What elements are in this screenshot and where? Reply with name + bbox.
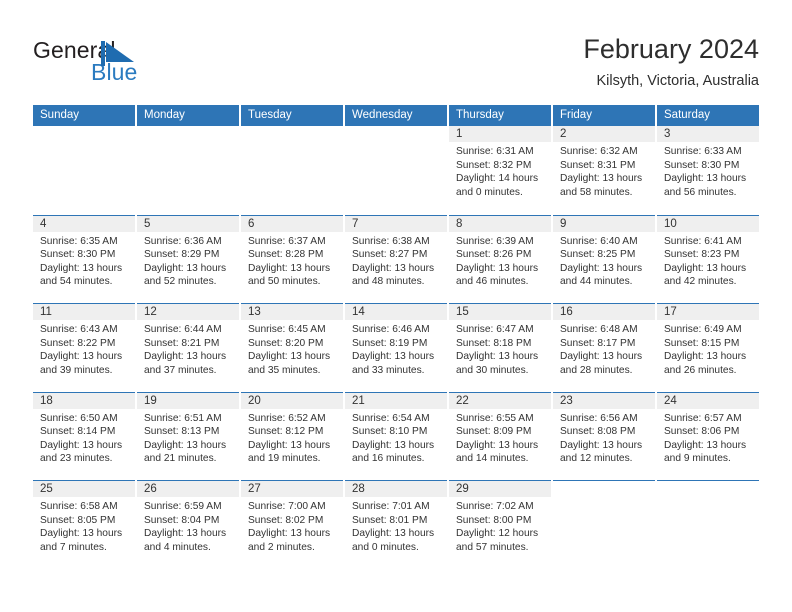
calendar-day-cell[interactable]: 25Sunrise: 6:58 AMSunset: 8:05 PMDayligh…: [33, 480, 135, 569]
sunset-time: Sunset: 8:30 PM: [40, 248, 129, 262]
calendar-cell-empty: [553, 480, 655, 569]
day-details: Sunrise: 6:35 AMSunset: 8:30 PMDaylight:…: [33, 232, 135, 289]
sunrise-time: Sunrise: 6:33 AM: [664, 145, 753, 159]
sunrise-time: Sunrise: 6:46 AM: [352, 323, 441, 337]
calendar-day-cell[interactable]: 2Sunrise: 6:32 AMSunset: 8:31 PMDaylight…: [553, 126, 655, 215]
day-number: 9: [553, 216, 655, 232]
sunset-time: Sunset: 8:09 PM: [456, 425, 545, 439]
calendar-page: General Blue February 2024 Kilsyth, Vict…: [0, 0, 792, 612]
calendar-cell-empty: [241, 126, 343, 215]
day-details: Sunrise: 6:54 AMSunset: 8:10 PMDaylight:…: [345, 409, 447, 466]
sunrise-time: Sunrise: 6:40 AM: [560, 235, 649, 249]
daylight-duration-line1: Daylight: 13 hours: [248, 350, 337, 364]
sunrise-time: Sunrise: 6:52 AM: [248, 412, 337, 426]
day-details: Sunrise: 6:46 AMSunset: 8:19 PMDaylight:…: [345, 320, 447, 377]
daylight-duration-line1: Daylight: 13 hours: [144, 350, 233, 364]
day-details: Sunrise: 6:39 AMSunset: 8:26 PMDaylight:…: [449, 232, 551, 289]
day-number: 25: [33, 481, 135, 497]
daylight-duration-line2: and 14 minutes.: [456, 452, 545, 466]
sunset-time: Sunset: 8:18 PM: [456, 337, 545, 351]
daylight-duration-line2: and 54 minutes.: [40, 275, 129, 289]
daylight-duration-line2: and 21 minutes.: [144, 452, 233, 466]
sunrise-time: Sunrise: 6:45 AM: [248, 323, 337, 337]
daylight-duration-line1: Daylight: 13 hours: [40, 439, 129, 453]
daylight-duration-line2: and 2 minutes.: [248, 541, 337, 555]
daylight-duration-line2: and 50 minutes.: [248, 275, 337, 289]
calendar-day-cell[interactable]: 26Sunrise: 6:59 AMSunset: 8:04 PMDayligh…: [137, 480, 239, 569]
day-details: Sunrise: 6:36 AMSunset: 8:29 PMDaylight:…: [137, 232, 239, 289]
calendar-week-row: 4Sunrise: 6:35 AMSunset: 8:30 PMDaylight…: [33, 215, 759, 304]
daylight-duration-line1: Daylight: 14 hours: [456, 172, 545, 186]
calendar-cell-empty: [33, 126, 135, 215]
title-block: February 2024 Kilsyth, Victoria, Austral…: [583, 33, 759, 91]
day-details: Sunrise: 6:50 AMSunset: 8:14 PMDaylight:…: [33, 409, 135, 466]
day-number: 2: [553, 126, 655, 142]
sunrise-time: Sunrise: 6:47 AM: [456, 323, 545, 337]
day-number: 1: [449, 126, 551, 142]
weekday-header-thursday: Thursday: [449, 105, 551, 126]
daylight-duration-line2: and 48 minutes.: [352, 275, 441, 289]
day-number: 8: [449, 216, 551, 232]
sunset-time: Sunset: 8:17 PM: [560, 337, 649, 351]
sunset-time: Sunset: 8:15 PM: [664, 337, 753, 351]
sunset-time: Sunset: 8:05 PM: [40, 514, 129, 528]
daylight-duration-line2: and 4 minutes.: [144, 541, 233, 555]
sunrise-time: Sunrise: 6:32 AM: [560, 145, 649, 159]
daylight-duration-line1: Daylight: 13 hours: [664, 439, 753, 453]
calendar-day-cell[interactable]: 4Sunrise: 6:35 AMSunset: 8:30 PMDaylight…: [33, 215, 135, 304]
calendar-week-row: 18Sunrise: 6:50 AMSunset: 8:14 PMDayligh…: [33, 392, 759, 481]
day-number: 24: [657, 393, 759, 409]
day-number: 15: [449, 304, 551, 320]
day-details: Sunrise: 7:02 AMSunset: 8:00 PMDaylight:…: [449, 497, 551, 554]
daylight-duration-line1: Daylight: 13 hours: [560, 172, 649, 186]
daylight-duration-line1: Daylight: 13 hours: [456, 262, 545, 276]
sunrise-time: Sunrise: 7:00 AM: [248, 500, 337, 514]
daylight-duration-line1: Daylight: 13 hours: [664, 262, 753, 276]
day-details: Sunrise: 6:47 AMSunset: 8:18 PMDaylight:…: [449, 320, 551, 377]
daylight-duration-line1: Daylight: 13 hours: [456, 439, 545, 453]
daylight-duration-line1: Daylight: 13 hours: [40, 262, 129, 276]
calendar-day-cell[interactable]: 20Sunrise: 6:52 AMSunset: 8:12 PMDayligh…: [241, 392, 343, 481]
sunrise-time: Sunrise: 6:48 AM: [560, 323, 649, 337]
calendar-day-cell[interactable]: 18Sunrise: 6:50 AMSunset: 8:14 PMDayligh…: [33, 392, 135, 481]
calendar-day-cell[interactable]: 23Sunrise: 6:56 AMSunset: 8:08 PMDayligh…: [553, 392, 655, 481]
daylight-duration-line1: Daylight: 13 hours: [560, 350, 649, 364]
calendar-weeks: 1Sunrise: 6:31 AMSunset: 8:32 PMDaylight…: [33, 126, 759, 569]
daylight-duration-line2: and 7 minutes.: [40, 541, 129, 555]
sunrise-time: Sunrise: 6:59 AM: [144, 500, 233, 514]
day-details: Sunrise: 7:01 AMSunset: 8:01 PMDaylight:…: [345, 497, 447, 554]
day-number: 28: [345, 481, 447, 497]
daylight-duration-line2: and 37 minutes.: [144, 364, 233, 378]
sunset-time: Sunset: 8:14 PM: [40, 425, 129, 439]
calendar-day-cell[interactable]: 16Sunrise: 6:48 AMSunset: 8:17 PMDayligh…: [553, 303, 655, 392]
day-number: 7: [345, 216, 447, 232]
daylight-duration-line2: and 23 minutes.: [40, 452, 129, 466]
day-details: Sunrise: 6:37 AMSunset: 8:28 PMDaylight:…: [241, 232, 343, 289]
weekday-header-tuesday: Tuesday: [241, 105, 343, 126]
daylight-duration-line1: Daylight: 13 hours: [352, 262, 441, 276]
daylight-duration-line2: and 52 minutes.: [144, 275, 233, 289]
page-title: February 2024: [583, 33, 759, 65]
sunrise-time: Sunrise: 6:54 AM: [352, 412, 441, 426]
day-details: Sunrise: 6:51 AMSunset: 8:13 PMDaylight:…: [137, 409, 239, 466]
sunset-time: Sunset: 8:29 PM: [144, 248, 233, 262]
general-blue-logo[interactable]: General Blue: [33, 37, 233, 93]
daylight-duration-line2: and 12 minutes.: [560, 452, 649, 466]
day-number: 13: [241, 304, 343, 320]
calendar-cell-empty: [137, 126, 239, 215]
logo-flag-icon: [101, 41, 137, 66]
day-details: Sunrise: 6:56 AMSunset: 8:08 PMDaylight:…: [553, 409, 655, 466]
sunrise-time: Sunrise: 6:35 AM: [40, 235, 129, 249]
day-number: 23: [553, 393, 655, 409]
daylight-duration-line2: and 28 minutes.: [560, 364, 649, 378]
calendar-week-row: 25Sunrise: 6:58 AMSunset: 8:05 PMDayligh…: [33, 480, 759, 569]
day-details: Sunrise: 6:31 AMSunset: 8:32 PMDaylight:…: [449, 142, 551, 199]
calendar-week-row: 11Sunrise: 6:43 AMSunset: 8:22 PMDayligh…: [33, 303, 759, 392]
daylight-duration-line2: and 9 minutes.: [664, 452, 753, 466]
day-details: Sunrise: 6:59 AMSunset: 8:04 PMDaylight:…: [137, 497, 239, 554]
weekday-header-row: SundayMondayTuesdayWednesdayThursdayFrid…: [33, 105, 759, 126]
daylight-duration-line2: and 46 minutes.: [456, 275, 545, 289]
sunset-time: Sunset: 8:01 PM: [352, 514, 441, 528]
day-number: 21: [345, 393, 447, 409]
weekday-header-wednesday: Wednesday: [345, 105, 447, 126]
sunset-time: Sunset: 8:13 PM: [144, 425, 233, 439]
daylight-duration-line2: and 58 minutes.: [560, 186, 649, 200]
sunset-time: Sunset: 8:12 PM: [248, 425, 337, 439]
sunrise-time: Sunrise: 6:51 AM: [144, 412, 233, 426]
day-number: 3: [657, 126, 759, 142]
sunrise-time: Sunrise: 6:50 AM: [40, 412, 129, 426]
day-details: Sunrise: 6:44 AMSunset: 8:21 PMDaylight:…: [137, 320, 239, 377]
day-number: 12: [137, 304, 239, 320]
calendar-day-cell[interactable]: 14Sunrise: 6:46 AMSunset: 8:19 PMDayligh…: [345, 303, 447, 392]
weekday-header-friday: Friday: [553, 105, 655, 126]
sunrise-time: Sunrise: 6:43 AM: [40, 323, 129, 337]
daylight-duration-line2: and 30 minutes.: [456, 364, 545, 378]
calendar-day-cell[interactable]: 10Sunrise: 6:41 AMSunset: 8:23 PMDayligh…: [657, 215, 759, 304]
sunrise-time: Sunrise: 7:02 AM: [456, 500, 545, 514]
day-details: Sunrise: 6:55 AMSunset: 8:09 PMDaylight:…: [449, 409, 551, 466]
daylight-duration-line1: Daylight: 13 hours: [560, 262, 649, 276]
calendar-day-cell[interactable]: 19Sunrise: 6:51 AMSunset: 8:13 PMDayligh…: [137, 392, 239, 481]
calendar-day-cell[interactable]: 21Sunrise: 6:54 AMSunset: 8:10 PMDayligh…: [345, 392, 447, 481]
calendar-day-cell[interactable]: 1Sunrise: 6:31 AMSunset: 8:32 PMDaylight…: [449, 126, 551, 215]
page-header: General Blue February 2024 Kilsyth, Vict…: [33, 33, 759, 99]
day-number: 17: [657, 304, 759, 320]
day-details: Sunrise: 6:41 AMSunset: 8:23 PMDaylight:…: [657, 232, 759, 289]
calendar-day-cell[interactable]: 24Sunrise: 6:57 AMSunset: 8:06 PMDayligh…: [657, 392, 759, 481]
day-details: Sunrise: 6:45 AMSunset: 8:20 PMDaylight:…: [241, 320, 343, 377]
daylight-duration-line1: Daylight: 13 hours: [664, 350, 753, 364]
day-details: Sunrise: 6:32 AMSunset: 8:31 PMDaylight:…: [553, 142, 655, 199]
calendar-day-cell[interactable]: 22Sunrise: 6:55 AMSunset: 8:09 PMDayligh…: [449, 392, 551, 481]
day-number: 10: [657, 216, 759, 232]
sunset-time: Sunset: 8:08 PM: [560, 425, 649, 439]
sunset-time: Sunset: 8:23 PM: [664, 248, 753, 262]
sunrise-time: Sunrise: 6:38 AM: [352, 235, 441, 249]
daylight-duration-line2: and 0 minutes.: [456, 186, 545, 200]
sunset-time: Sunset: 8:22 PM: [40, 337, 129, 351]
daylight-duration-line1: Daylight: 13 hours: [456, 350, 545, 364]
daylight-duration-line2: and 39 minutes.: [40, 364, 129, 378]
day-number: 6: [241, 216, 343, 232]
calendar-day-cell[interactable]: 9Sunrise: 6:40 AMSunset: 8:25 PMDaylight…: [553, 215, 655, 304]
calendar-week-row: 1Sunrise: 6:31 AMSunset: 8:32 PMDaylight…: [33, 126, 759, 215]
sunrise-time: Sunrise: 6:41 AM: [664, 235, 753, 249]
sunset-time: Sunset: 8:25 PM: [560, 248, 649, 262]
sunset-time: Sunset: 8:19 PM: [352, 337, 441, 351]
sunset-time: Sunset: 8:06 PM: [664, 425, 753, 439]
daylight-duration-line1: Daylight: 13 hours: [248, 527, 337, 541]
day-number: 16: [553, 304, 655, 320]
day-number: 20: [241, 393, 343, 409]
daylight-duration-line2: and 0 minutes.: [352, 541, 441, 555]
daylight-duration-line2: and 16 minutes.: [352, 452, 441, 466]
sunrise-time: Sunrise: 6:36 AM: [144, 235, 233, 249]
day-number: 18: [33, 393, 135, 409]
daylight-duration-line2: and 35 minutes.: [248, 364, 337, 378]
sunrise-time: Sunrise: 6:58 AM: [40, 500, 129, 514]
daylight-duration-line2: and 26 minutes.: [664, 364, 753, 378]
daylight-duration-line1: Daylight: 13 hours: [352, 527, 441, 541]
calendar-cell-empty: [657, 480, 759, 569]
day-details: Sunrise: 6:40 AMSunset: 8:25 PMDaylight:…: [553, 232, 655, 289]
daylight-duration-line1: Daylight: 12 hours: [456, 527, 545, 541]
daylight-duration-line1: Daylight: 13 hours: [352, 439, 441, 453]
day-number: 14: [345, 304, 447, 320]
daylight-duration-line2: and 33 minutes.: [352, 364, 441, 378]
daylight-duration-line2: and 57 minutes.: [456, 541, 545, 555]
daylight-duration-line1: Daylight: 13 hours: [352, 350, 441, 364]
sunrise-time: Sunrise: 7:01 AM: [352, 500, 441, 514]
calendar-day-cell[interactable]: 27Sunrise: 7:00 AMSunset: 8:02 PMDayligh…: [241, 480, 343, 569]
day-details: Sunrise: 6:43 AMSunset: 8:22 PMDaylight:…: [33, 320, 135, 377]
daylight-duration-line2: and 19 minutes.: [248, 452, 337, 466]
sunrise-time: Sunrise: 6:57 AM: [664, 412, 753, 426]
sunrise-time: Sunrise: 6:37 AM: [248, 235, 337, 249]
daylight-duration-line1: Daylight: 13 hours: [664, 172, 753, 186]
calendar-day-cell[interactable]: 28Sunrise: 7:01 AMSunset: 8:01 PMDayligh…: [345, 480, 447, 569]
calendar-day-cell[interactable]: 5Sunrise: 6:36 AMSunset: 8:29 PMDaylight…: [137, 215, 239, 304]
daylight-duration-line1: Daylight: 13 hours: [144, 439, 233, 453]
sunset-time: Sunset: 8:20 PM: [248, 337, 337, 351]
sunset-time: Sunset: 8:10 PM: [352, 425, 441, 439]
daylight-duration-line1: Daylight: 13 hours: [40, 527, 129, 541]
day-details: Sunrise: 6:48 AMSunset: 8:17 PMDaylight:…: [553, 320, 655, 377]
calendar-day-cell[interactable]: 11Sunrise: 6:43 AMSunset: 8:22 PMDayligh…: [33, 303, 135, 392]
day-number: 26: [137, 481, 239, 497]
daylight-duration-line1: Daylight: 13 hours: [560, 439, 649, 453]
calendar-day-cell[interactable]: 8Sunrise: 6:39 AMSunset: 8:26 PMDaylight…: [449, 215, 551, 304]
daylight-duration-line1: Daylight: 13 hours: [248, 439, 337, 453]
day-details: Sunrise: 6:38 AMSunset: 8:27 PMDaylight:…: [345, 232, 447, 289]
day-number: 5: [137, 216, 239, 232]
calendar-day-cell[interactable]: 13Sunrise: 6:45 AMSunset: 8:20 PMDayligh…: [241, 303, 343, 392]
sunset-time: Sunset: 8:02 PM: [248, 514, 337, 528]
day-number: 29: [449, 481, 551, 497]
sunset-time: Sunset: 8:21 PM: [144, 337, 233, 351]
day-number: 4: [33, 216, 135, 232]
daylight-duration-line1: Daylight: 13 hours: [248, 262, 337, 276]
sunrise-time: Sunrise: 6:56 AM: [560, 412, 649, 426]
day-details: Sunrise: 7:00 AMSunset: 8:02 PMDaylight:…: [241, 497, 343, 554]
calendar-day-cell[interactable]: 17Sunrise: 6:49 AMSunset: 8:15 PMDayligh…: [657, 303, 759, 392]
daylight-duration-line1: Daylight: 13 hours: [144, 527, 233, 541]
sunset-time: Sunset: 8:26 PM: [456, 248, 545, 262]
sunrise-time: Sunrise: 6:31 AM: [456, 145, 545, 159]
day-number: 27: [241, 481, 343, 497]
sunset-time: Sunset: 8:04 PM: [144, 514, 233, 528]
calendar-cell-empty: [345, 126, 447, 215]
weekday-header-monday: Monday: [137, 105, 239, 126]
day-details: Sunrise: 6:58 AMSunset: 8:05 PMDaylight:…: [33, 497, 135, 554]
calendar-day-cell[interactable]: 7Sunrise: 6:38 AMSunset: 8:27 PMDaylight…: [345, 215, 447, 304]
sunset-time: Sunset: 8:30 PM: [664, 159, 753, 173]
calendar-day-cell[interactable]: 3Sunrise: 6:33 AMSunset: 8:30 PMDaylight…: [657, 126, 759, 215]
day-details: Sunrise: 6:57 AMSunset: 8:06 PMDaylight:…: [657, 409, 759, 466]
daylight-duration-line2: and 42 minutes.: [664, 275, 753, 289]
calendar-day-cell[interactable]: 6Sunrise: 6:37 AMSunset: 8:28 PMDaylight…: [241, 215, 343, 304]
weekday-header-saturday: Saturday: [657, 105, 759, 126]
calendar-day-cell[interactable]: 15Sunrise: 6:47 AMSunset: 8:18 PMDayligh…: [449, 303, 551, 392]
daylight-duration-line1: Daylight: 13 hours: [40, 350, 129, 364]
calendar-day-cell[interactable]: 29Sunrise: 7:02 AMSunset: 8:00 PMDayligh…: [449, 480, 551, 569]
daylight-duration-line1: Daylight: 13 hours: [144, 262, 233, 276]
daylight-duration-line2: and 44 minutes.: [560, 275, 649, 289]
sunrise-time: Sunrise: 6:39 AM: [456, 235, 545, 249]
day-number: 19: [137, 393, 239, 409]
sunset-time: Sunset: 8:27 PM: [352, 248, 441, 262]
day-details: Sunrise: 6:52 AMSunset: 8:12 PMDaylight:…: [241, 409, 343, 466]
sunrise-time: Sunrise: 6:49 AM: [664, 323, 753, 337]
day-details: Sunrise: 6:49 AMSunset: 8:15 PMDaylight:…: [657, 320, 759, 377]
sunset-time: Sunset: 8:31 PM: [560, 159, 649, 173]
sunset-time: Sunset: 8:28 PM: [248, 248, 337, 262]
day-number: 11: [33, 304, 135, 320]
day-details: Sunrise: 6:33 AMSunset: 8:30 PMDaylight:…: [657, 142, 759, 199]
sunrise-time: Sunrise: 6:55 AM: [456, 412, 545, 426]
sunset-time: Sunset: 8:00 PM: [456, 514, 545, 528]
sunrise-time: Sunrise: 6:44 AM: [144, 323, 233, 337]
sunset-time: Sunset: 8:32 PM: [456, 159, 545, 173]
calendar-grid: SundayMondayTuesdayWednesdayThursdayFrid…: [33, 105, 759, 569]
day-number: 22: [449, 393, 551, 409]
weekday-header-sunday: Sunday: [33, 105, 135, 126]
daylight-duration-line2: and 56 minutes.: [664, 186, 753, 200]
calendar-day-cell[interactable]: 12Sunrise: 6:44 AMSunset: 8:21 PMDayligh…: [137, 303, 239, 392]
location-subtitle: Kilsyth, Victoria, Australia: [583, 71, 759, 91]
